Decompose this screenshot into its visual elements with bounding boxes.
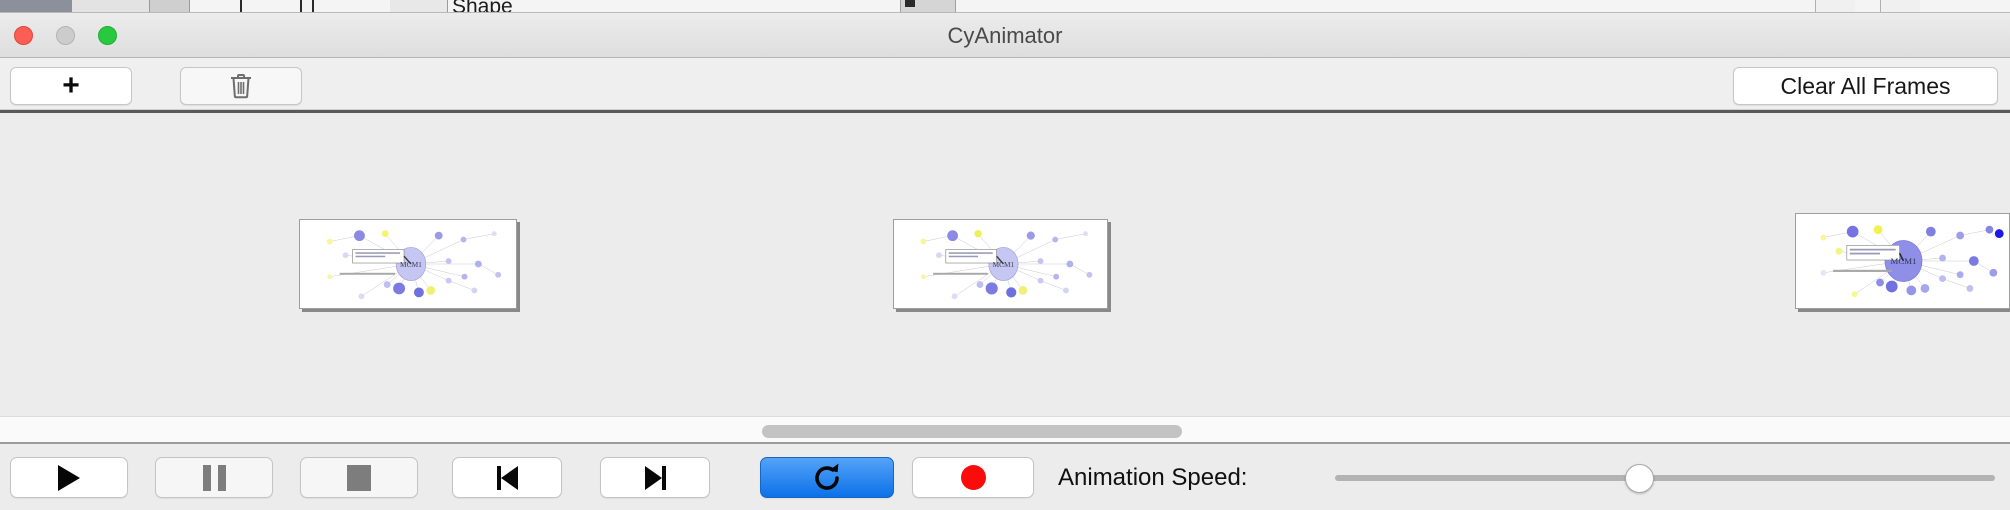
plus-icon: + (62, 71, 80, 101)
background-window-segment (1880, 0, 1920, 13)
background-window-arrow-icon (905, 0, 915, 7)
timeline-scrollbar[interactable] (0, 416, 2010, 444)
pause-icon (203, 465, 226, 491)
background-window-tick (240, 0, 242, 13)
timeline-panel[interactable]: MCM1 (0, 110, 2010, 416)
network-preview: MCM1 (894, 220, 1107, 308)
svg-text:MCM1: MCM1 (1891, 256, 1917, 266)
clear-all-frames-button[interactable]: Clear All Frames (1733, 67, 1998, 105)
background-window-tick (300, 0, 302, 13)
play-icon (58, 465, 80, 491)
skip-start-icon (497, 466, 518, 490)
skip-to-end-button[interactable] (600, 457, 710, 498)
scrollbar-thumb[interactable] (762, 425, 1182, 438)
record-icon (961, 465, 986, 490)
background-window-segment (390, 0, 448, 13)
playback-bar: Animation Speed: (0, 446, 2010, 510)
background-window-tick (312, 0, 314, 13)
background-window-label: Shape (452, 0, 513, 13)
stop-button[interactable] (300, 457, 418, 498)
toolbar: + Clear All Frames (0, 58, 2010, 110)
pause-button[interactable] (155, 457, 273, 498)
animation-speed-slider[interactable] (1335, 457, 1995, 498)
frame-thumbnail[interactable]: MCM1 (893, 219, 1108, 309)
trash-icon (228, 72, 254, 100)
record-button[interactable] (912, 457, 1034, 498)
background-window-segment (150, 0, 190, 13)
add-frame-button[interactable]: + (10, 67, 132, 105)
background-window-segment (1815, 0, 1855, 13)
background-window: Shape (0, 0, 2010, 13)
background-window-dark-segment (0, 0, 72, 13)
delete-frame-button[interactable] (180, 67, 302, 105)
svg-text:MCM1: MCM1 (400, 260, 422, 269)
slider-thumb[interactable] (1625, 464, 1654, 493)
frame-thumbnail[interactable]: MCM1 (1795, 213, 2010, 309)
loop-icon (810, 461, 844, 495)
stop-icon (347, 465, 371, 491)
svg-text:MCM1: MCM1 (993, 260, 1015, 269)
title-bar: CyAnimator (0, 13, 2010, 58)
frame-thumbnail[interactable]: MCM1 (299, 219, 517, 309)
clear-all-frames-label: Clear All Frames (1781, 73, 1951, 100)
play-button[interactable] (10, 457, 128, 498)
cyanimator-window: Shape CyAnimator + Clear All Frames (0, 0, 2010, 510)
skip-end-icon (645, 466, 666, 490)
window-title: CyAnimator (0, 13, 2010, 58)
loop-button[interactable] (760, 457, 894, 498)
network-preview: MCM1 (1796, 214, 2009, 308)
slider-track[interactable] (1335, 475, 1995, 481)
animation-speed-label: Animation Speed: (1058, 464, 1247, 492)
background-window-segment (72, 0, 150, 13)
skip-to-start-button[interactable] (452, 457, 562, 498)
network-preview: MCM1 (300, 220, 516, 308)
